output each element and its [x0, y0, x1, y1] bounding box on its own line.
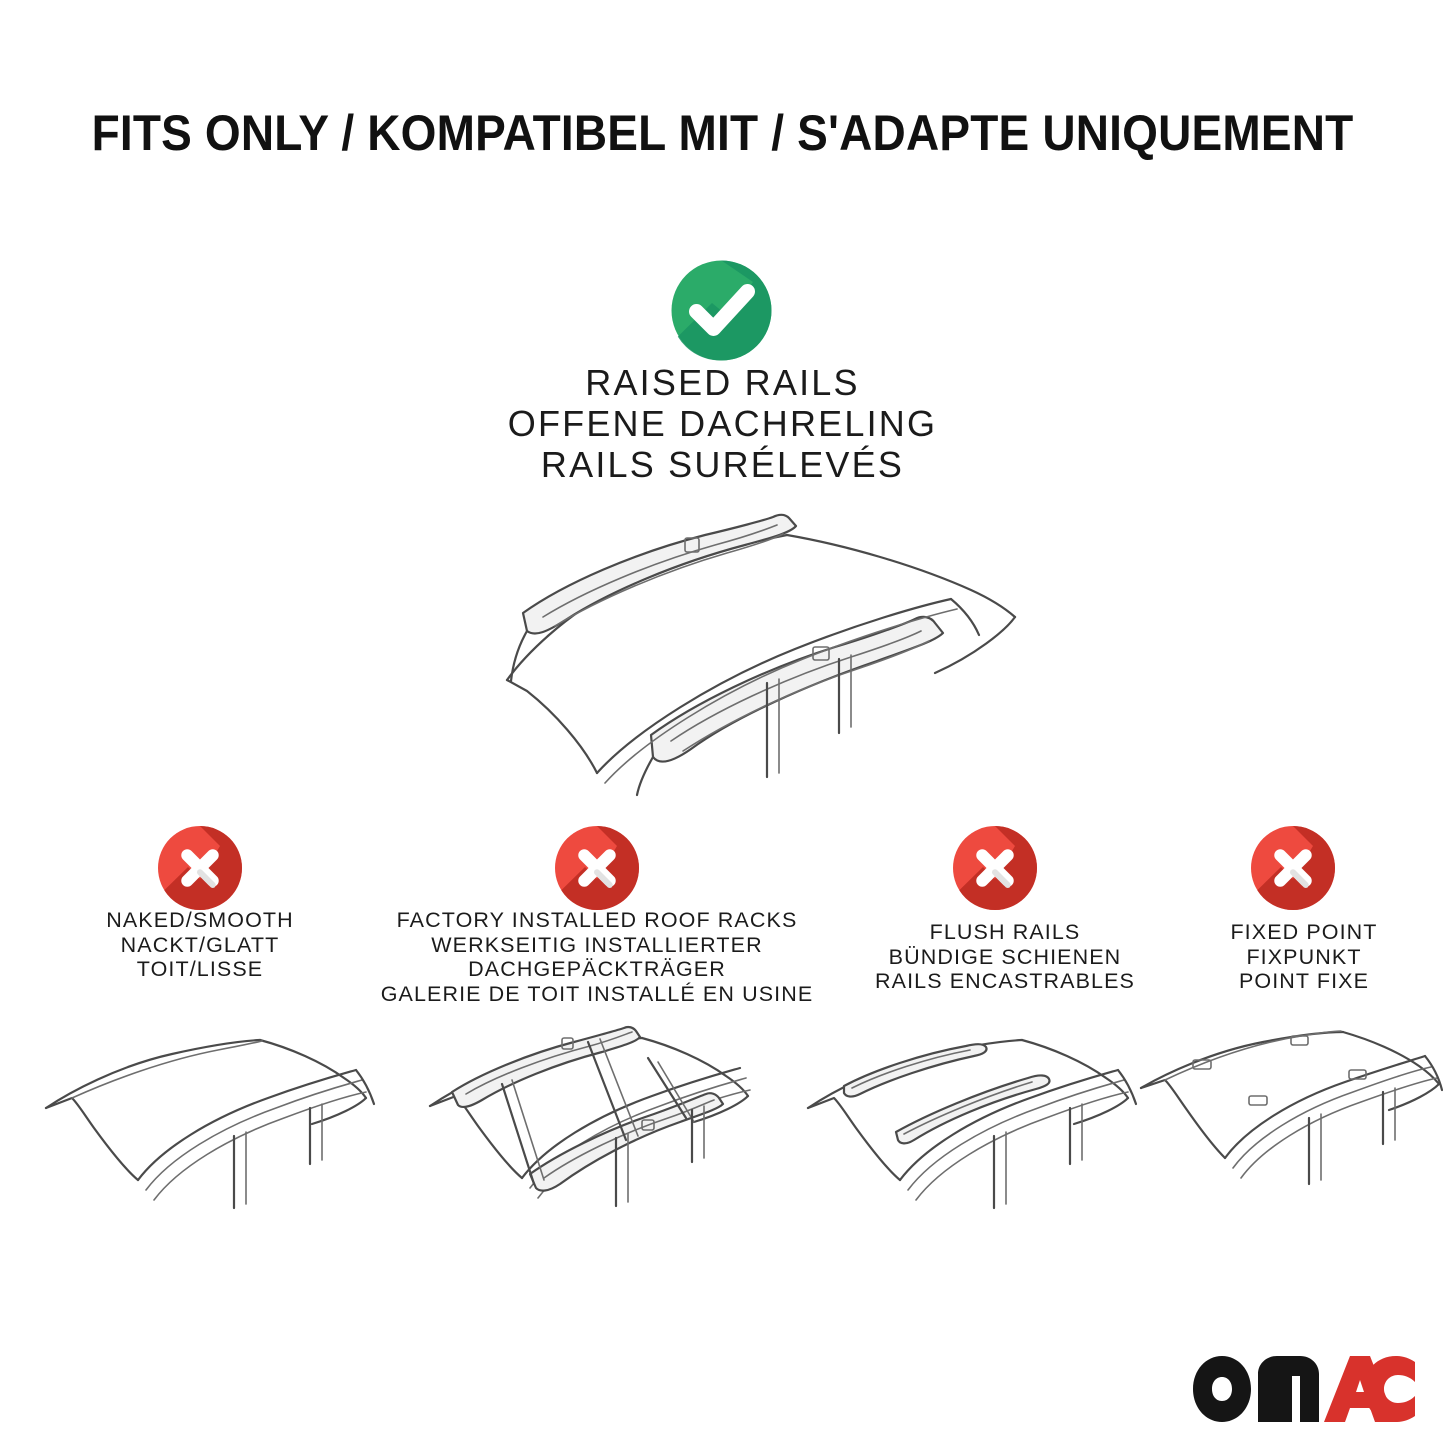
caption-line: BÜNDIGE SCHIENEN: [830, 945, 1180, 970]
caption-line: TOIT/LISSE: [35, 957, 365, 982]
caption-line: FIXPUNKT: [1178, 945, 1430, 970]
caption-line: FLUSH RAILS: [830, 920, 1180, 945]
incompatible-caption-flush-rails: FLUSH RAILS BÜNDIGE SCHIENEN RAILS ENCAS…: [830, 920, 1180, 994]
caption-line: RAILS SURÉLEVÉS: [0, 444, 1445, 485]
cross-circle-icon: [1247, 822, 1339, 914]
fitment-guide-page: FITS ONLY / KOMPATIBEL MIT / S'ADAPTE UN…: [0, 0, 1445, 1445]
caption-line: NAKED/SMOOTH: [35, 908, 365, 933]
incompatible-caption-fixed-point: FIXED POINT FIXPUNKT POINT FIXE: [1178, 920, 1430, 994]
caption-line: POINT FIXE: [1178, 969, 1430, 994]
cross-circle-icon: [154, 822, 246, 914]
car-roof-flush-rails-illustration: [782, 1022, 1138, 1254]
caption-line: OFFENE DACHRELING: [0, 403, 1445, 444]
caption-line: GALERIE DE TOIT INSTALLÉ EN USINE: [372, 982, 822, 1007]
caption-line: NACKT/GLATT: [35, 933, 365, 958]
caption-line: FACTORY INSTALLED ROOF RACKS: [372, 908, 822, 933]
car-roof-naked-smooth-illustration: [22, 1022, 378, 1254]
page-title: FITS ONLY / KOMPATIBEL MIT / S'ADAPTE UN…: [58, 104, 1387, 162]
check-circle-icon: [667, 256, 776, 365]
caption-line: RAILS ENCASTRABLES: [830, 969, 1180, 994]
caption-line: RAISED RAILS: [0, 362, 1445, 403]
car-roof-fixed-point-illustration: [1131, 1022, 1443, 1254]
caption-line: WERKSEITIG INSTALLIERTER: [372, 933, 822, 958]
incompatible-caption-naked-smooth: NAKED/SMOOTH NACKT/GLATT TOIT/LISSE: [35, 908, 365, 982]
cross-circle-icon: [551, 822, 643, 914]
incompatible-caption-factory-racks: FACTORY INSTALLED ROOF RACKS WERKSEITIG …: [372, 908, 822, 1006]
caption-line: FIXED POINT: [1178, 920, 1430, 945]
omac-logo: [1192, 1356, 1416, 1422]
compatible-caption: RAISED RAILS OFFENE DACHRELING RAILS SUR…: [0, 362, 1445, 485]
cross-circle-icon: [949, 822, 1041, 914]
caption-line: DACHGEPÄCKTRÄGER: [372, 957, 822, 982]
car-roof-factory-racks-illustration: [404, 1014, 760, 1254]
car-roof-raised-rails-illustration: [415, 495, 1035, 810]
